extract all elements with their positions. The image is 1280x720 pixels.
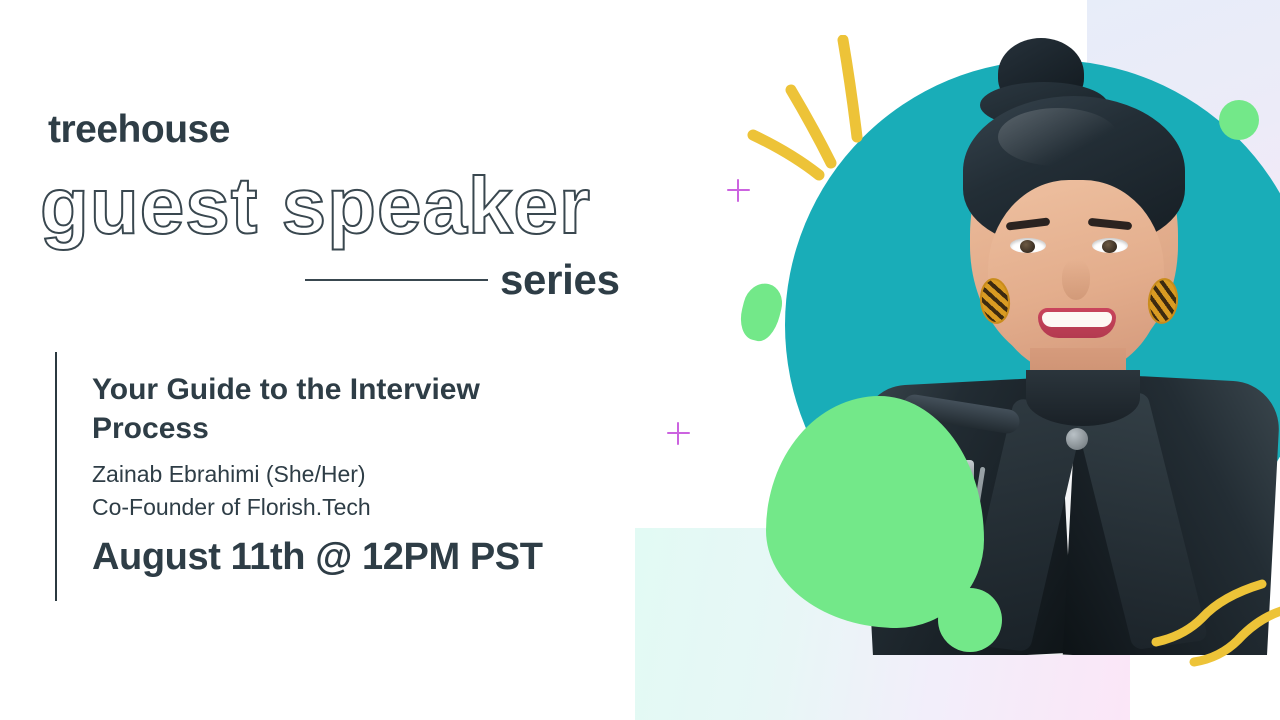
- speaker-name: Zainab Ebrahimi (She/Her): [92, 461, 366, 488]
- portrait-hair-sheen: [998, 108, 1118, 166]
- green-dot-shape: [938, 588, 1002, 652]
- plus-mark-icon: [727, 179, 750, 202]
- portrait-jacket-stud: [1066, 428, 1088, 450]
- series-label: series: [500, 256, 620, 304]
- brand-wordmark: treehouse: [48, 108, 230, 152]
- plus-mark-icon: [667, 422, 690, 445]
- series-divider-rule: [305, 279, 488, 281]
- portrait-teeth: [1042, 312, 1112, 327]
- promo-slide: treehouse guest speaker series Your Guid…: [0, 0, 1280, 720]
- speaker-role: Co-Founder of Florish.Tech: [92, 494, 371, 521]
- portrait-mouth: [1038, 308, 1116, 338]
- portrait-collar: [1026, 370, 1140, 426]
- portrait-nose: [1062, 260, 1090, 300]
- green-dot-shape: [1219, 100, 1259, 140]
- portrait-iris-right: [1102, 240, 1117, 253]
- green-bean-shape: [736, 279, 787, 344]
- talk-title: Your Guide to the Interview Process: [92, 370, 522, 448]
- event-datetime: August 11th @ 12PM PST: [92, 536, 543, 579]
- headline-outline: guest speaker: [40, 160, 591, 252]
- portrait-iris-left: [1020, 240, 1035, 253]
- vertical-accent-rule: [55, 352, 57, 601]
